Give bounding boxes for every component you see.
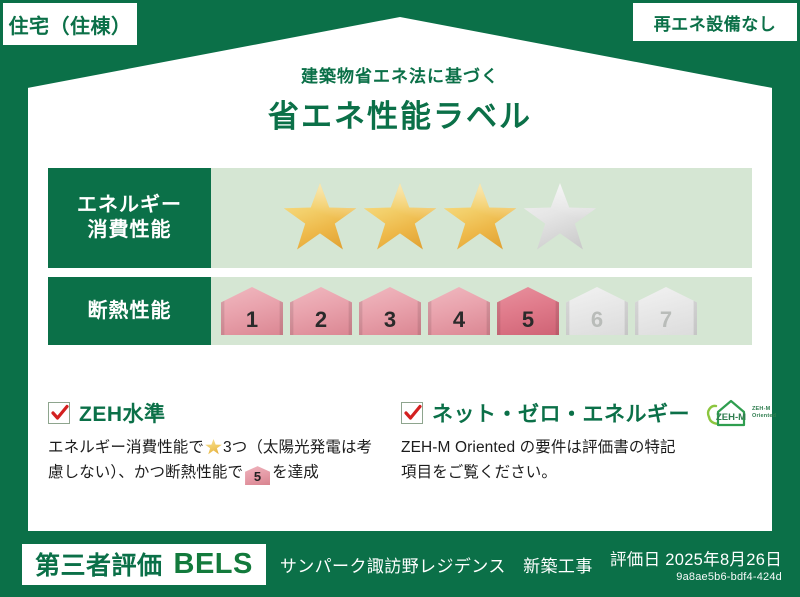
bels-jp-label: 第三者評価 — [35, 546, 163, 582]
energy-performance-row: エネルギー 消費性能 — [48, 168, 752, 268]
zeh-m-caption-line1: ZEH-M — [752, 406, 770, 412]
page-title: 省エネ性能ラベル — [0, 91, 800, 136]
insulation-performance-label: 断熱性能 — [48, 277, 211, 345]
zeh-note-body: エネルギー消費性能で3つ（太陽光発電は考慮しない）、かつ断熱性能で5を達成 — [48, 435, 387, 485]
bels-energy-label: 住宅（住棟） 再エネ設備なし 建築物省エネ法に基づく 省エネ性能ラベル エネルギ… — [0, 0, 800, 597]
inline-star-icon — [205, 439, 222, 455]
footer-bar: 第三者評価 BELS サンパーク諏訪野レジデンス 新築工事 評価日 2025年8… — [0, 531, 800, 597]
evaluation-id: 9a8ae5b6-bdf4-424d — [610, 571, 782, 583]
zeh-note-header: ZEH水準 — [48, 398, 387, 428]
net-zero-checkbox-checked-icon — [401, 402, 423, 424]
grade-badge-1-number: 1 — [246, 309, 258, 331]
zeh-m-logo-caption: ZEH-M Oriented — [752, 406, 776, 420]
grade-badge-1: 1 — [221, 287, 283, 335]
bels-badge: 第三者評価 BELS — [22, 544, 266, 585]
energy-performance-label: エネルギー 消費性能 — [48, 168, 211, 268]
zeh-standard-note: ZEH水準 エネルギー消費性能で3つ（太陽光発電は考慮しない）、かつ断熱性能で5… — [48, 398, 401, 485]
zeh-note-text-part3: を達成 — [272, 464, 319, 481]
net-zero-note-body: ZEH-M Oriented の要件は評価書の特記 項目をご覧ください。 — [401, 435, 740, 485]
energy-performance-body — [211, 168, 752, 268]
label-subtitle: 建築物省エネ法に基づく — [0, 62, 800, 87]
star-icon-1 — [283, 183, 357, 253]
net-zero-note-title: ネット・ゼロ・エネルギー — [432, 398, 690, 428]
grade-badge-6: 6 — [566, 287, 628, 335]
zeh-m-caption-line2: Oriented — [752, 413, 776, 419]
svg-text:ZEH-M: ZEH-M — [716, 412, 746, 423]
building-name: サンパーク諏訪野レジデンス 新築工事 — [280, 552, 593, 577]
star-icon-4 — [523, 183, 597, 253]
insulation-grade-scale: 1 2 3 4 5 6 7 — [211, 287, 697, 335]
renewable-energy-tag-label: 再エネ設備なし — [654, 10, 777, 35]
net-zero-note-line1: ZEH-M Oriented の要件は評価書の特記 — [401, 435, 740, 460]
grade-badge-2-number: 2 — [315, 309, 327, 331]
energy-label-line1: エネルギー — [77, 193, 182, 218]
building-type-tag: 住宅（住棟） — [2, 2, 138, 46]
star-icon-2 — [363, 183, 437, 253]
inline-grade-badge-icon: 5 — [245, 466, 270, 485]
grade-badge-2: 2 — [290, 287, 352, 335]
insulation-performance-body: 1 2 3 4 5 6 7 — [211, 277, 752, 345]
zeh-note-star-count: 3つ（太陽光発電 — [223, 439, 341, 456]
grade-badge-4-number: 4 — [453, 309, 465, 331]
insulation-performance-row: 断熱性能 1 2 3 4 5 6 7 — [48, 277, 752, 345]
grade-badge-7-number: 7 — [660, 309, 672, 331]
grade-badge-5-number: 5 — [522, 309, 534, 331]
renewable-energy-tag: 再エネ設備なし — [632, 2, 798, 42]
zeh-note-title: ZEH水準 — [79, 398, 166, 428]
net-zero-note-line2: 項目をご覧ください。 — [401, 460, 740, 485]
grade-badge-5-selected: 5 — [497, 287, 559, 335]
performance-rows: エネルギー 消費性能 断熱性能 1 2 3 — [48, 168, 752, 354]
grade-badge-4: 4 — [428, 287, 490, 335]
bels-en-label: BELS — [174, 548, 253, 581]
grade-badge-7: 7 — [635, 287, 697, 335]
net-zero-note-header: ネット・ゼロ・エネルギー ZEH-M ZEH-M Oriented — [401, 398, 740, 428]
energy-label-line2: 消費性能 — [88, 218, 172, 243]
zeh-m-house-icon: ZEH-M — [705, 398, 749, 428]
star-icon-3 — [443, 183, 517, 253]
grade-badge-3-number: 3 — [384, 309, 396, 331]
zeh-note-text-part1: エネルギー消費性能で — [48, 439, 204, 456]
net-zero-energy-note: ネット・ゼロ・エネルギー ZEH-M ZEH-M Oriented ZEH-M … — [401, 398, 754, 485]
title-block: 建築物省エネ法に基づく 省エネ性能ラベル — [0, 62, 800, 136]
grade-badge-6-number: 6 — [591, 309, 603, 331]
star-rating — [211, 183, 597, 253]
footer-meta: 評価日 2025年8月26日 9a8ae5b6-bdf4-424d — [610, 546, 782, 583]
insulation-label-text: 断熱性能 — [88, 299, 172, 324]
grade-badge-3: 3 — [359, 287, 421, 335]
zeh-checkbox-checked-icon — [48, 402, 70, 424]
zeh-m-logo: ZEH-M ZEH-M Oriented — [705, 398, 776, 428]
building-type-tag-label: 住宅（住棟） — [9, 10, 132, 39]
evaluation-date: 評価日 2025年8月26日 — [610, 546, 782, 570]
notes-section: ZEH水準 エネルギー消費性能で3つ（太陽光発電は考慮しない）、かつ断熱性能で5… — [48, 398, 754, 485]
